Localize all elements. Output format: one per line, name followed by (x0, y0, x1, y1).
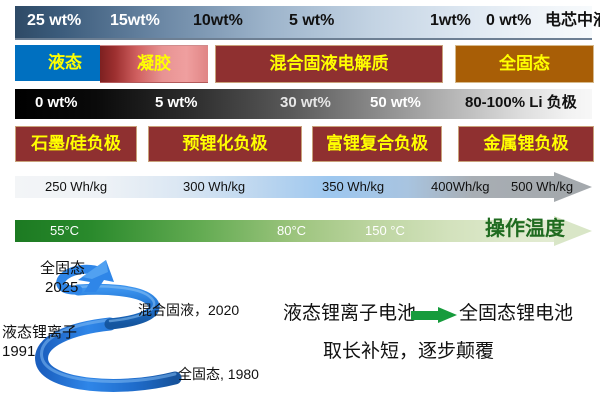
conclusion-subtitle-line: 取长补短，逐步颠覆 (323, 338, 583, 368)
temp-label-1: 80°C (277, 220, 306, 242)
roadmap-figure: 25 wt% 15wt% 10wt% 5 wt% 1wt% 0 wt% 电芯中液… (0, 0, 600, 400)
spiral-timeline: 全固态 2025 混合固液，2020 液态锂离子 1991 全固态, 1980 (0, 258, 300, 400)
electrolyte-state-row: 液态 凝胶 混合固液电解质 全固态 (0, 45, 600, 83)
right-arrow-shaft (411, 311, 439, 320)
state-box-gel[interactable]: 凝胶 (100, 45, 208, 83)
spiral-label-all-solid-2025: 全固态 (40, 260, 85, 277)
anode-box-li-rich-composite[interactable]: 富锂复合负极 (312, 126, 442, 162)
spiral-label-year-2025: 2025 (45, 279, 78, 296)
temp-label-2: 150 °C (365, 220, 405, 242)
liquid-scale-label-0: 25 wt% (27, 10, 81, 32)
li-scale-label-3: 50 wt% (370, 92, 421, 114)
liquid-content-scale-bar: 25 wt% 15wt% 10wt% 5 wt% 1wt% 0 wt% 电芯中液… (15, 6, 592, 40)
liquid-scale-label-1: 15wt% (110, 10, 160, 32)
operating-temperature-caption: 操作温度 (485, 214, 565, 244)
li-scale-label-1: 5 wt% (155, 92, 198, 114)
energy-label-2: 350 Wh/kg (322, 176, 384, 198)
right-arrow-icon (411, 307, 457, 323)
li-scale-label-0: 0 wt% (35, 92, 78, 114)
anode-material-row: 石墨/硅负极 预锂化负极 富锂复合负极 金属锂负极 (0, 126, 600, 162)
right-arrow-head (438, 307, 457, 323)
operating-temperature-arrow: 55°C 80°C 150 °C 操作温度 (15, 216, 592, 246)
energy-label-3: 400Wh/kg (431, 176, 490, 198)
energy-label-1: 300 Wh/kg (183, 176, 245, 198)
state-box-mixed[interactable]: 混合固液电解质 (215, 45, 443, 83)
anode-box-lithium-metal[interactable]: 金属锂负极 (458, 126, 594, 162)
energy-label-4: 500 Wh/kg (511, 176, 573, 198)
anode-box-graphite-silicon[interactable]: 石墨/硅负极 (15, 126, 137, 162)
liquid-content-caption: 电芯中液体 (545, 10, 600, 32)
conclusion-subtitle: 取长补短，逐步颠覆 (323, 338, 494, 366)
spiral-label-mixed-2020: 混合固液，2020 (138, 302, 239, 319)
state-box-all-solid[interactable]: 全固态 (455, 45, 594, 83)
temp-label-0: 55°C (50, 220, 79, 242)
li-scale-caption: 80-100% Li 负极 (465, 92, 577, 114)
spiral-label-all-solid-1980: 全固态, 1980 (178, 366, 259, 383)
li-anode-content-scale-bar: 0 wt% 5 wt% 30 wt% 50 wt% 80-100% Li 负极 (15, 89, 592, 119)
liquid-scale-label-4: 1wt% (430, 10, 471, 32)
conclusion-to-text: 全固态锂电池 (459, 300, 573, 328)
liquid-scale-label-2: 10wt% (193, 10, 243, 32)
conclusion-from-text: 液态锂离子电池 (283, 300, 416, 328)
liquid-scale-label-5: 0 wt% (486, 10, 531, 32)
anode-box-prelithiated[interactable]: 预锂化负极 (148, 126, 302, 162)
energy-label-0: 250 Wh/kg (45, 176, 107, 198)
energy-density-arrow: 250 Wh/kg 300 Wh/kg 350 Wh/kg 400Wh/kg 5… (15, 172, 592, 202)
li-scale-label-2: 30 wt% (280, 92, 331, 114)
spiral-label-year-1991: 1991 (2, 343, 35, 360)
liquid-scale-label-3: 5 wt% (289, 10, 334, 32)
spiral-label-liquid-li-ion: 液态锂离子 (2, 324, 77, 341)
conclusion-transition-line: 液态锂离子电池 全固态锂电池 (283, 300, 600, 330)
